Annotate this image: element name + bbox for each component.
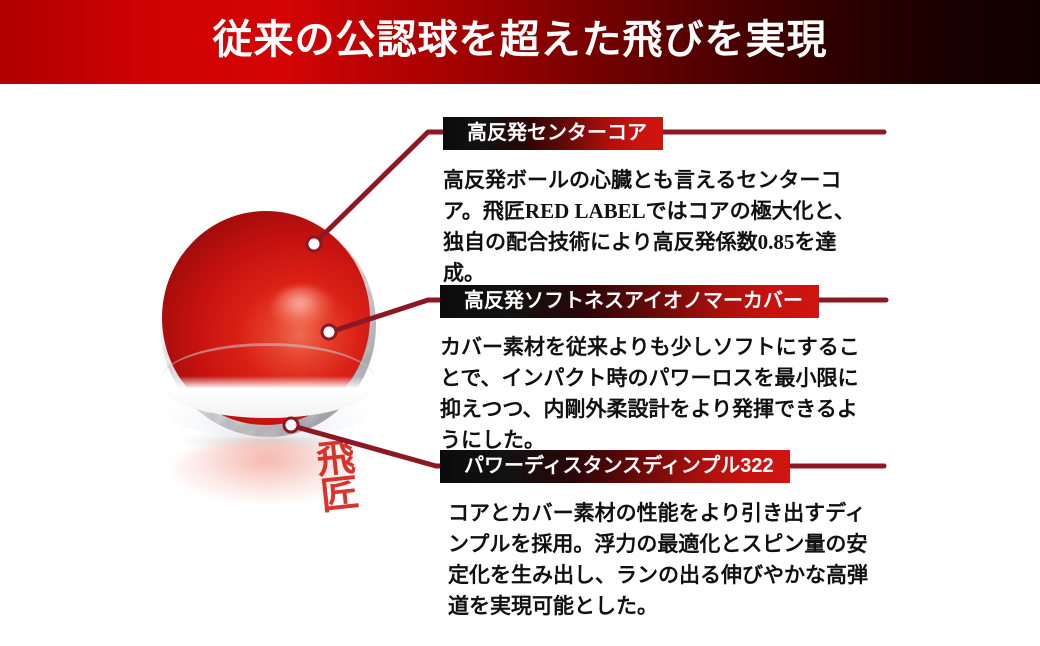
page-title: 従来の公認球を超えた飛びを実現 <box>0 14 1040 66</box>
product-feature-panel: 従来の公認球を超えた飛びを実現 飛匠 高反発センターコア <box>0 0 1040 646</box>
core-highlight <box>272 286 334 330</box>
header-band: 従来の公認球を超えた飛びを実現 <box>0 0 1040 84</box>
callout-body-center-core: 高反発ボールの心臓とも言えるセンターコア。飛匠RED LABELではコアの極大化… <box>443 165 871 289</box>
callout-body-dimple-322: コアとカバー素材の性能をより引き出すディンプルを採用。浮力の最適化とスピン量の安… <box>448 498 868 622</box>
callout-badge-ionomer-cover: 高反発ソフトネスアイオノマーカバー <box>440 285 819 318</box>
brand-mark: 飛匠 <box>295 423 361 526</box>
callout-badge-center-core: 高反発センターコア <box>443 117 663 150</box>
callout-badge-dimple-322: パワーディスタンスディンプル322 <box>440 450 790 483</box>
cover-rim <box>160 343 376 419</box>
cutaway-golf-ball-figure: 飛匠 <box>158 210 380 510</box>
callout-body-ionomer-cover: カバー素材を従来よりも少しソフトにすることで、インパクト時のパワーロスを最小限に… <box>440 332 872 456</box>
